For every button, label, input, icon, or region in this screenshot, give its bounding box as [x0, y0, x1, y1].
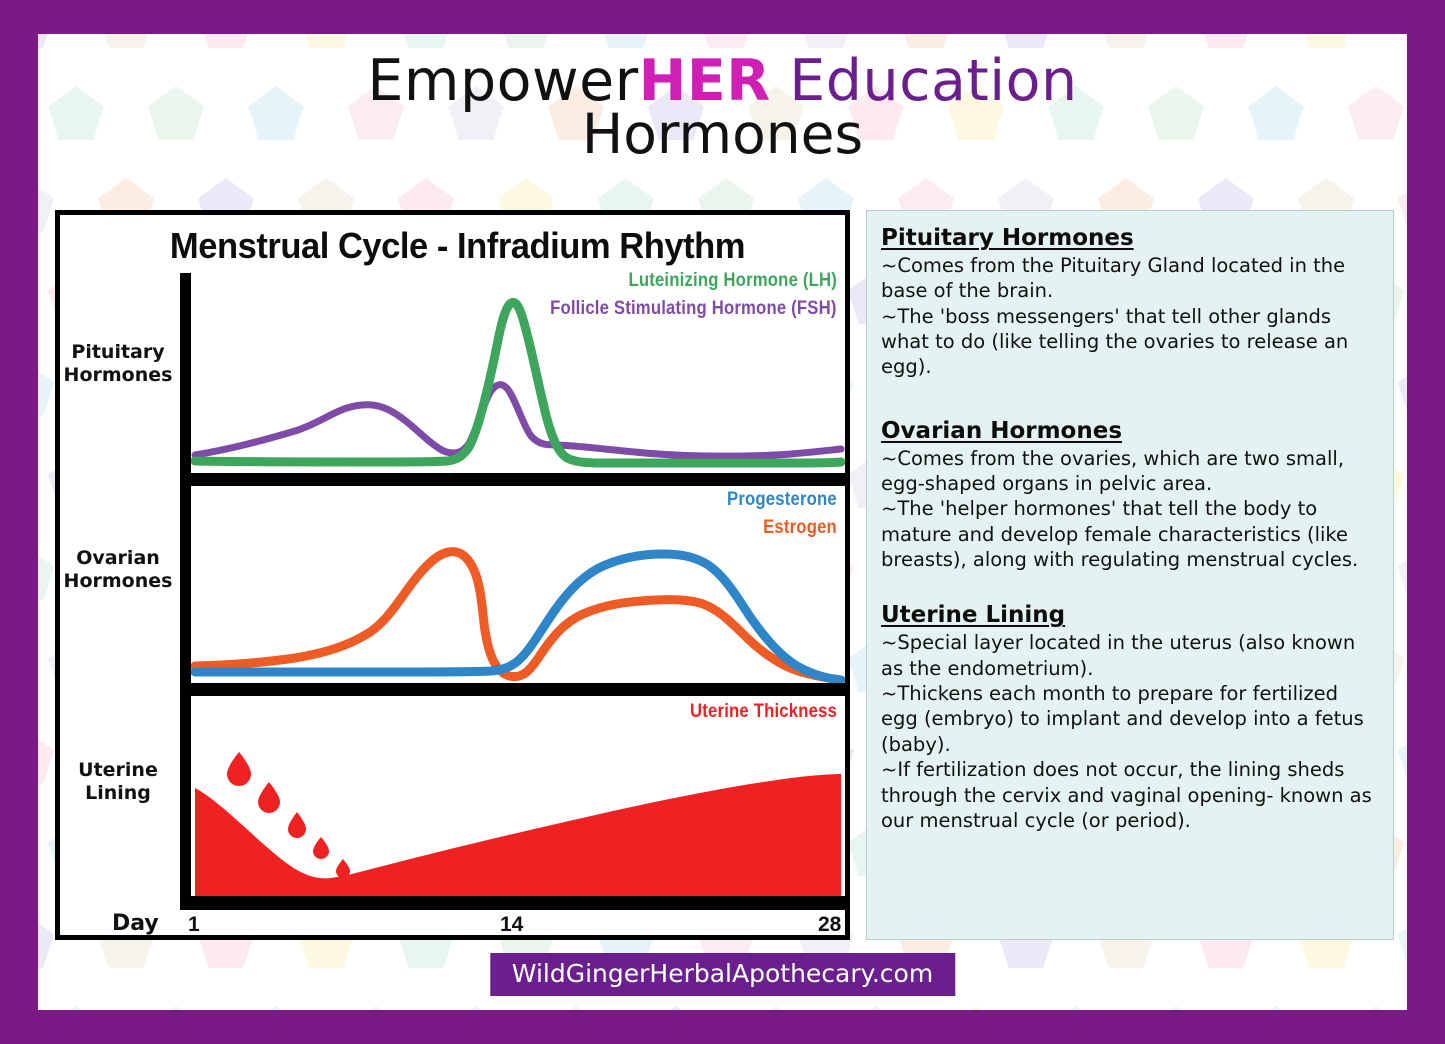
- background-pentagon: [948, 86, 1004, 140]
- background-pentagon: [448, 86, 504, 140]
- background-pentagon: [1048, 86, 1104, 140]
- separator-bar-2: [180, 683, 845, 696]
- background-pentagon: [1248, 86, 1304, 140]
- info-block-ovarian: Ovarian Hormones ~Comes from the ovaries…: [881, 418, 1377, 573]
- blood-droplet-2: [258, 782, 280, 813]
- background-pentagon: [948, 1006, 1004, 1010]
- background-pentagon: [98, 34, 154, 48]
- background-pentagon: [398, 34, 454, 48]
- background-pentagon: [148, 86, 204, 140]
- row-label-ovarian: Ovarian Hormones: [60, 547, 176, 593]
- background-pentagon: [38, 34, 54, 48]
- background-pentagon: [38, 178, 54, 232]
- chart-title: Menstrual Cycle - Infradium Rhythm: [76, 225, 839, 267]
- background-pentagon: [1398, 914, 1407, 968]
- uterine-area-chart: [191, 696, 845, 896]
- ovarian-curves: [191, 486, 845, 683]
- background-pentagon: [598, 34, 654, 48]
- separator-bar-1: [180, 473, 845, 486]
- background-pentagon: [38, 730, 54, 784]
- info-body-uterine: ~Special layer located in the uterus (al…: [881, 630, 1377, 833]
- legend-estrogen: Estrogen: [763, 517, 837, 539]
- fsh-curve: [195, 385, 841, 457]
- background-pentagon: [348, 86, 404, 140]
- background-pentagon: [248, 86, 304, 140]
- background-pentagon: [1098, 34, 1154, 48]
- background-pentagon: [698, 34, 754, 48]
- blood-droplet-4: [313, 837, 329, 859]
- background-pentagon: [498, 34, 554, 48]
- background-pentagon: [38, 546, 54, 600]
- row-label-uterine: Uterine Lining: [60, 759, 176, 805]
- plot-panel-pituitary: Luteinizing Hormone (LH) Follicle Stimul…: [191, 273, 845, 473]
- background-pentagon: [38, 362, 54, 416]
- background-pentagon: [48, 86, 104, 140]
- background-pentagon: [248, 1006, 304, 1010]
- background-pentagon: [648, 86, 704, 140]
- day-tick-28: 28: [818, 913, 841, 937]
- background-pentagon: [1248, 1006, 1304, 1010]
- info-body-pituitary: ~Comes from the Pituitary Gland located …: [881, 253, 1377, 380]
- info-heading-pituitary: Pituitary Hormones: [881, 225, 1377, 251]
- background-pentagon: [1398, 730, 1407, 784]
- background-pentagon: [1348, 86, 1404, 140]
- footer-website-banner: WildGingerHerbalApothecary.com: [490, 953, 955, 996]
- plot-panel-uterine: Uterine Thickness: [191, 696, 845, 896]
- background-pentagon: [998, 34, 1054, 48]
- background-pentagon: [448, 1006, 504, 1010]
- background-pentagon: [848, 86, 904, 140]
- background-pentagon: [848, 1006, 904, 1010]
- y-axis-spine-uterine: [180, 696, 191, 896]
- info-heading-uterine: Uterine Lining: [881, 602, 1377, 628]
- background-pentagon: [1398, 362, 1407, 416]
- plot-panel-ovarian: Progesterone Estrogen: [191, 486, 845, 683]
- info-panel: Pituitary Hormones ~Comes from the Pitui…: [866, 210, 1394, 940]
- day-tick-1: 1: [188, 913, 200, 937]
- row-label-pituitary: Pituitary Hormones: [60, 341, 176, 387]
- info-block-uterine: Uterine Lining ~Special layer located in…: [881, 602, 1377, 833]
- background-pentagon: [1398, 34, 1407, 48]
- background-pentagon: [648, 1006, 704, 1010]
- background-pentagon: [1348, 1006, 1404, 1010]
- x-axis-label-day: Day: [112, 911, 159, 936]
- info-heading-ovarian: Ovarian Hormones: [881, 418, 1377, 444]
- background-pentagon: [798, 34, 854, 48]
- background-pentagon: [548, 86, 604, 140]
- blood-droplet-1: [227, 752, 251, 786]
- background-pentagon: [1048, 1006, 1104, 1010]
- background-pentagon: [1398, 178, 1407, 232]
- background-pentagon: [748, 1006, 804, 1010]
- info-block-pituitary: Pituitary Hormones ~Comes from the Pitui…: [881, 225, 1377, 380]
- background-pentagon: [548, 1006, 604, 1010]
- lh-curve: [195, 302, 841, 463]
- info-body-ovarian: ~Comes from the ovaries, which are two s…: [881, 446, 1377, 573]
- background-pentagon: [298, 34, 354, 48]
- blood-droplet-3: [288, 812, 306, 838]
- legend-progesterone: Progesterone: [727, 489, 837, 511]
- background-pentagon: [1398, 546, 1407, 600]
- background-pentagon: [148, 1006, 204, 1010]
- poster-root: EmpowerHER Education Hormones Menstrual …: [0, 0, 1445, 1044]
- background-pentagon: [1148, 86, 1204, 140]
- poster-page: EmpowerHER Education Hormones Menstrual …: [38, 34, 1407, 1010]
- background-pentagon: [38, 914, 54, 968]
- day-tick-14: 14: [500, 913, 523, 937]
- background-pentagon: [48, 1006, 104, 1010]
- background-pentagon: [1198, 34, 1254, 48]
- background-pentagon: [748, 86, 804, 140]
- blood-droplet-5: [336, 859, 350, 878]
- y-axis-spine-pituitary: [180, 273, 191, 473]
- y-axis-spine-ovarian: [180, 486, 191, 683]
- x-axis-bar: [180, 896, 845, 910]
- legend-lh: Luteinizing Hormone (LH): [628, 270, 837, 292]
- legend-fsh: Follicle Stimulating Hormone (FSH): [550, 298, 837, 320]
- background-pentagon: [348, 1006, 404, 1010]
- legend-uterine-thickness: Uterine Thickness: [690, 701, 837, 723]
- background-pentagon: [1148, 1006, 1204, 1010]
- chart-card: Menstrual Cycle - Infradium Rhythm Pitui…: [55, 210, 850, 940]
- background-pentagon: [198, 34, 254, 48]
- background-pentagon: [898, 34, 954, 48]
- background-pentagon: [1298, 34, 1354, 48]
